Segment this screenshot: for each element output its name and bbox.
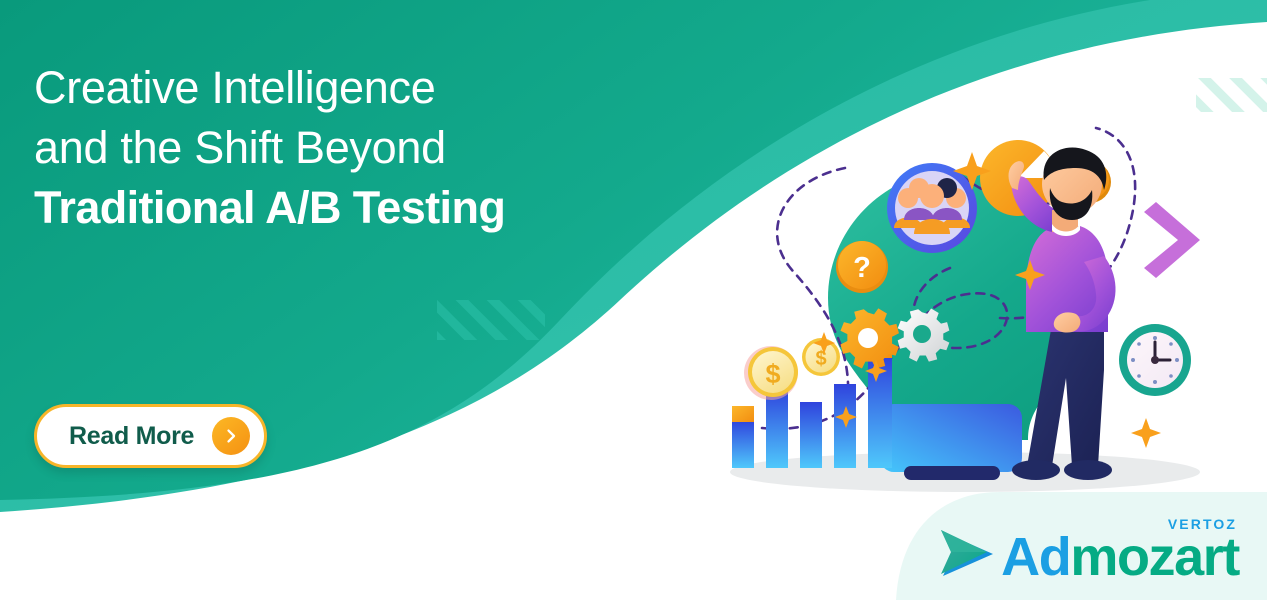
shoe-right	[1064, 460, 1112, 480]
admozart-logo[interactable]: VERTOZ Admozart	[935, 517, 1239, 584]
logo-word-part1: Ad	[1001, 527, 1070, 587]
promo-banner: Creative Intelligence and the Shift Beyo…	[0, 0, 1267, 600]
play-triangle-icon	[935, 526, 997, 582]
shoe-left	[1012, 460, 1060, 480]
svg-text:$: $	[765, 359, 780, 389]
chevron-right-icon	[212, 417, 250, 455]
stripes-right	[1196, 78, 1267, 112]
page-title: Creative Intelligence and the Shift Beyo…	[34, 58, 654, 238]
bar-2	[766, 388, 788, 468]
read-more-button[interactable]: Read More	[34, 404, 267, 468]
lightbulb-base	[880, 404, 1022, 472]
stripes-left	[437, 300, 545, 340]
question-coin-icon: ?	[836, 241, 888, 293]
logo-word-part2: mozart	[1070, 527, 1239, 587]
bar-4	[834, 384, 856, 468]
logo-text: VERTOZ Admozart	[1001, 517, 1239, 584]
headline-line-1: Creative Intelligence	[34, 58, 654, 118]
chevron-decoration	[1144, 202, 1200, 278]
headline-line-3: Traditional A/B Testing	[34, 178, 654, 238]
bar-1	[732, 420, 754, 468]
dollar-coin-large-icon: $	[744, 346, 798, 400]
admozart-wordmark: Admozart	[1001, 532, 1239, 584]
creative-intelligence-illustration: $ $ ?	[700, 110, 1240, 510]
headline-line-2: and the Shift Beyond	[34, 118, 654, 178]
read-more-label: Read More	[69, 422, 194, 451]
lightbulb-base-cap	[904, 466, 1000, 480]
svg-text:?: ?	[853, 252, 871, 284]
headline-block: Creative Intelligence and the Shift Beyo…	[34, 58, 654, 238]
bar-3	[800, 402, 822, 468]
bar-1-cap	[732, 406, 754, 422]
clock-icon	[1119, 324, 1191, 396]
audience-circle-icon	[887, 163, 977, 253]
